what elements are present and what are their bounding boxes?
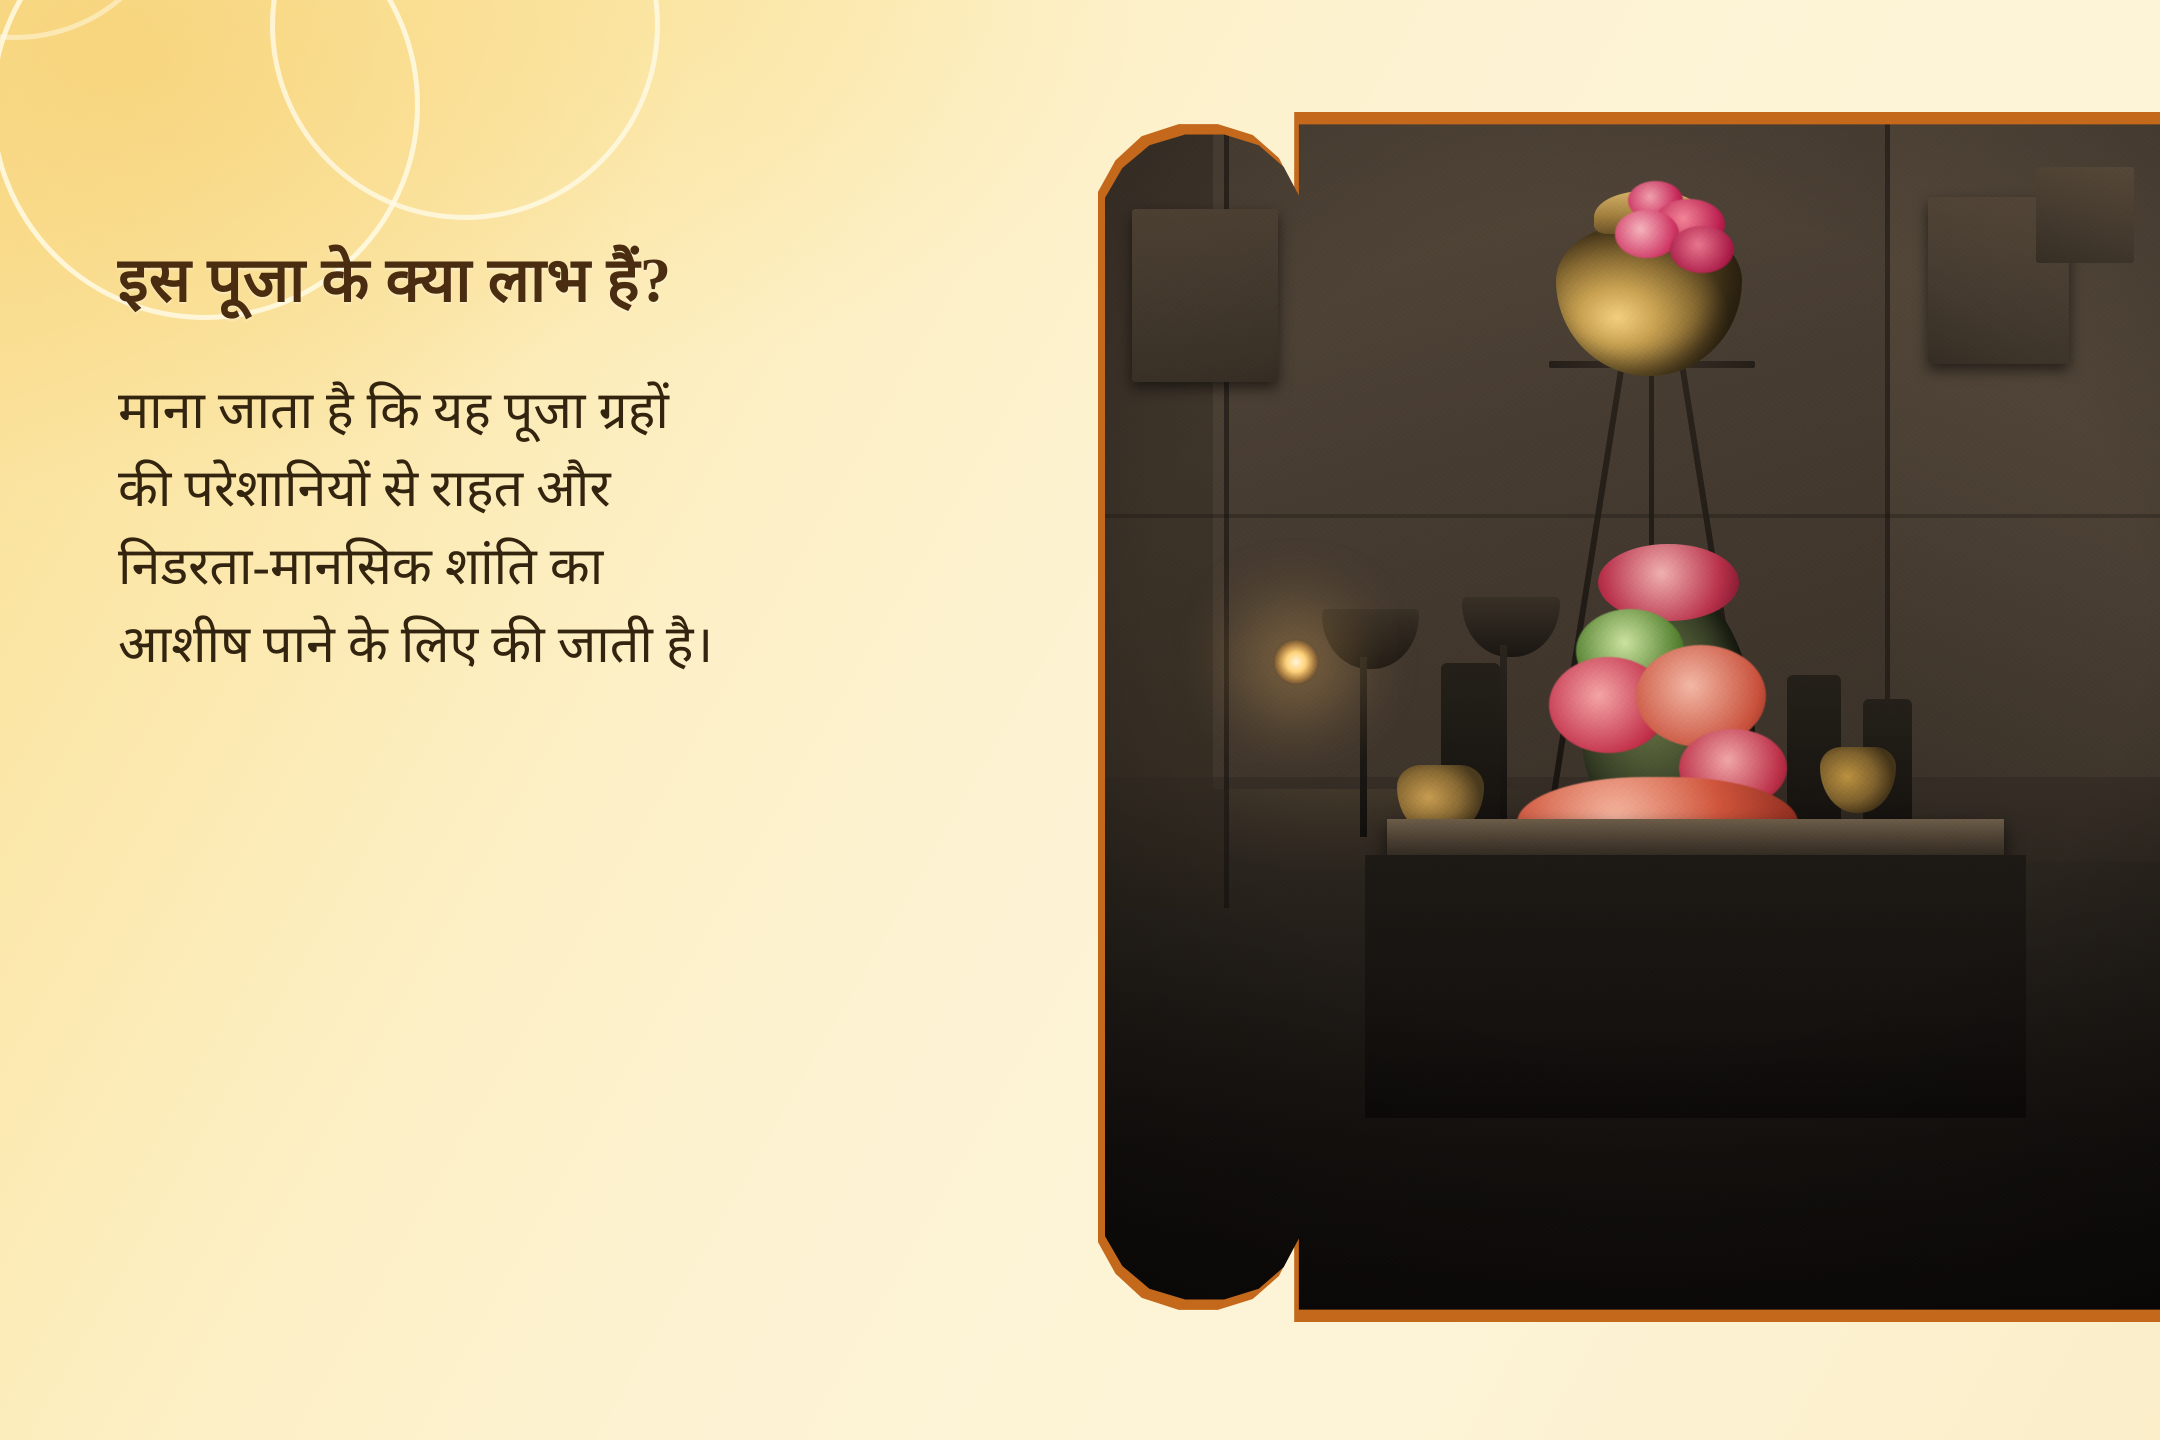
paragraph-line-1: माना जाता है कि यह पूजा ग्रहों	[118, 373, 818, 451]
shrine-photo	[1105, 119, 2160, 1315]
text-column: इस पूजा के क्या लाभ हैं? माना जाता है कि…	[118, 248, 818, 685]
paragraph-line-2: की परेशानियों से राहत और	[118, 451, 818, 529]
shrine-photo-card	[1098, 112, 2160, 1322]
paragraph-line-3: निडरता-मानसिक शांति का	[118, 529, 818, 607]
body-paragraph: माना जाता है कि यह पूजा ग्रहों की परेशान…	[118, 373, 818, 685]
page-title: इस पूजा के क्या लाभ हैं?	[118, 248, 818, 315]
stone-ledge-left	[1132, 209, 1278, 382]
paragraph-line-4: आशीष पाने के लिए की जाती है।	[118, 607, 818, 685]
wall-seam-3	[1105, 514, 2160, 518]
shrine-platform-base	[1365, 855, 2026, 1118]
kalash-flower-4	[1670, 226, 1733, 273]
kalash-flower-3	[1615, 210, 1678, 257]
slide-canvas: इस पूजा के क्या लाभ हैं? माना जाता है कि…	[0, 0, 2160, 1440]
lamp-stand-left	[1360, 657, 1367, 836]
oil-lamp-flame	[1273, 639, 1319, 685]
stone-ledge-right-upper	[2036, 167, 2133, 263]
lamp-stand-center	[1500, 645, 1507, 824]
brass-kalash-pot	[1544, 179, 1755, 376]
